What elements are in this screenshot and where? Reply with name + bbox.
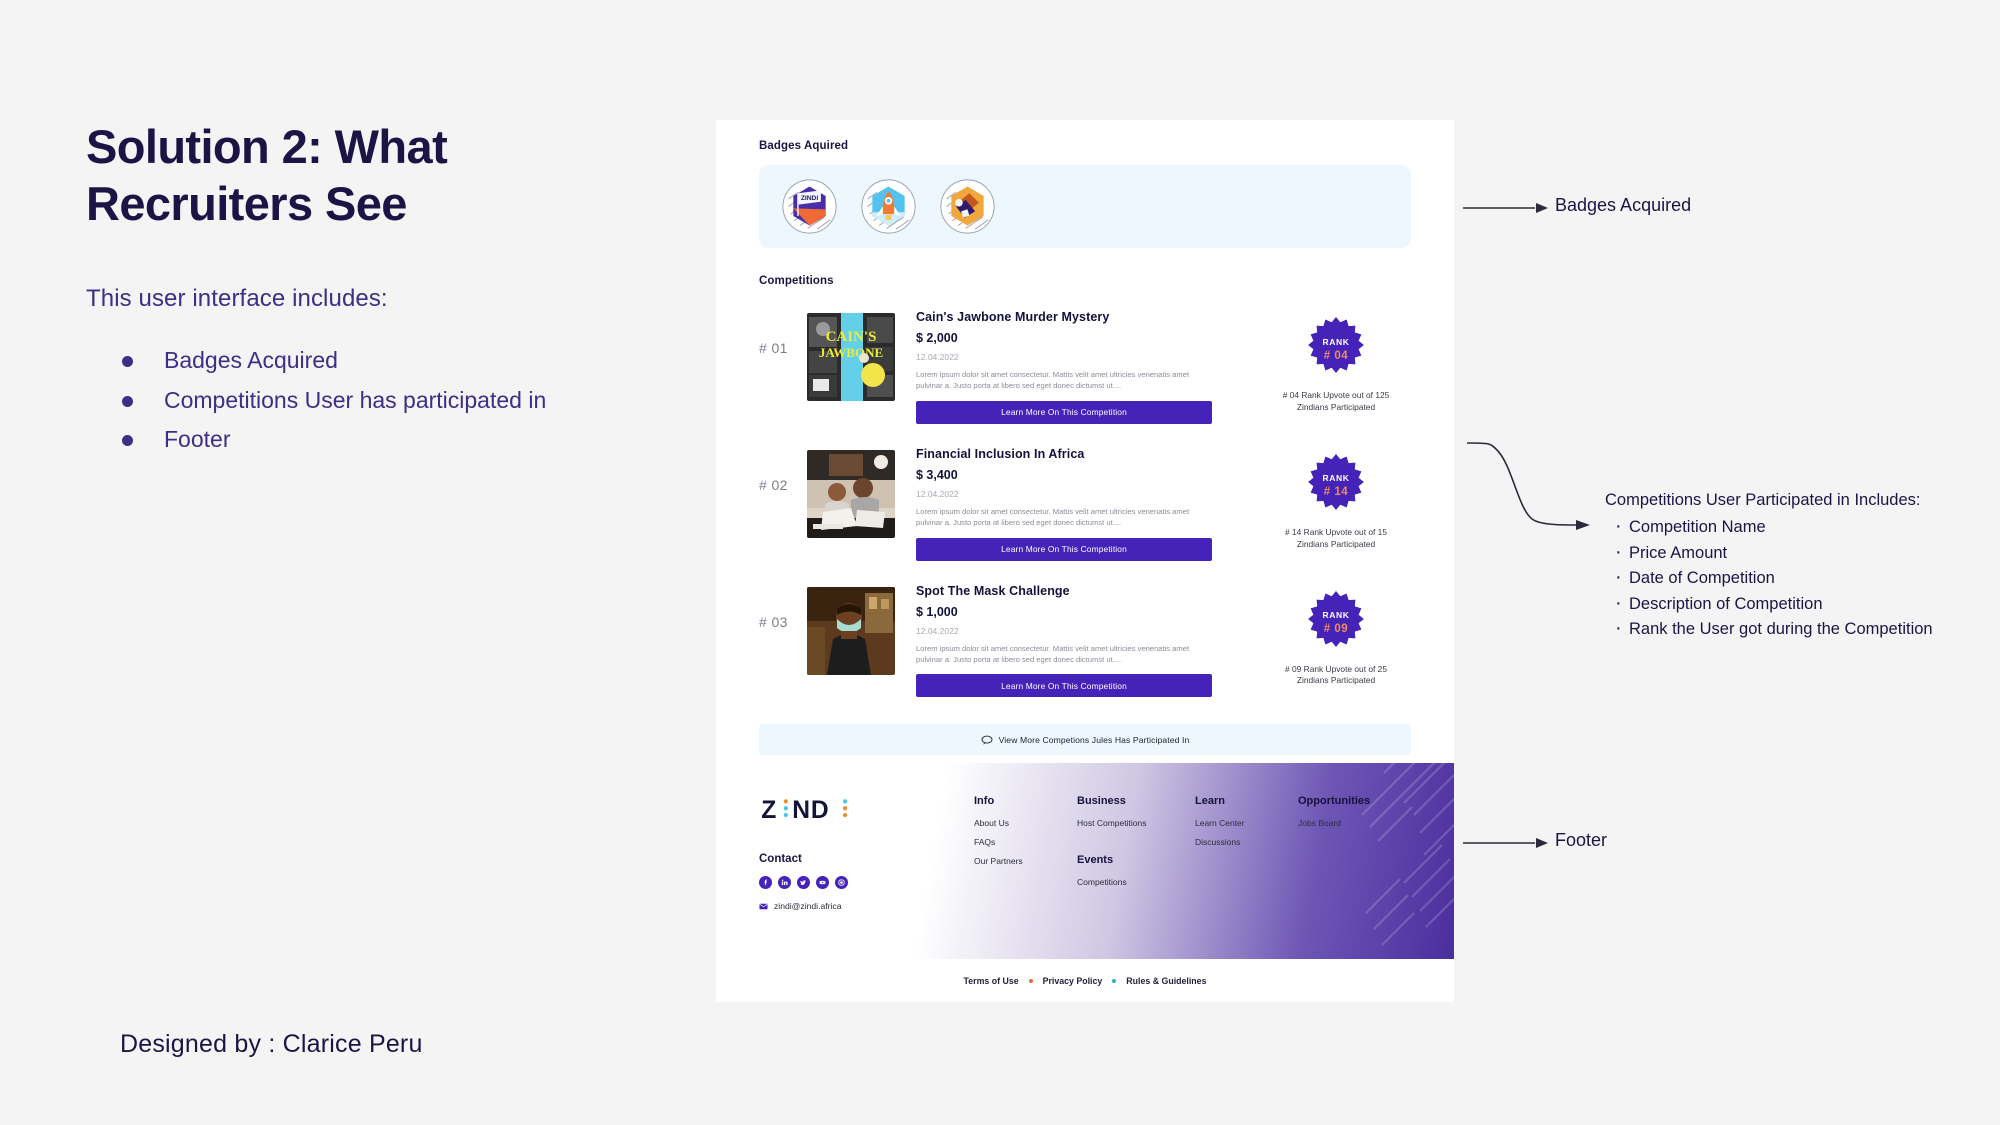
competition-date: 12.04.2022 xyxy=(916,352,1251,362)
svg-text:Z: Z xyxy=(761,796,777,823)
competitions-section-label: Competitions xyxy=(759,275,1411,287)
cains-jawbone-book-cover: CAIN'S JAWBONE xyxy=(807,313,895,401)
row-index: # 02 xyxy=(759,447,807,493)
chat-bubble-icon xyxy=(981,735,993,745)
rank-caption: # 04 Rank Upvote out of 125 Zindians Par… xyxy=(1261,390,1411,414)
legal-separator-dot xyxy=(1112,979,1116,983)
footer-link[interactable]: Our Partners xyxy=(974,856,1077,866)
svg-text:JAWBONE: JAWBONE xyxy=(819,345,883,360)
rocket-badge[interactable] xyxy=(860,178,917,235)
feature-bullet-list: Badges Acquired Competitions User has pa… xyxy=(86,343,606,459)
learn-more-button[interactable]: Learn More On This Competition xyxy=(916,401,1212,424)
slide-canvas: Solution 2: What Recruiters See This use… xyxy=(0,0,2000,1125)
terms-of-use-link[interactable]: Terms of Use xyxy=(964,976,1019,986)
rank-column: RANK # 09 # 09 Rank Upvote out of 25 Zin… xyxy=(1261,584,1411,688)
table-row: # 02 xyxy=(759,437,1411,574)
email-address: zindi@zindi.africa xyxy=(774,901,841,911)
competition-title: Cain's Jawbone Murder Mystery xyxy=(916,310,1251,324)
rank-word: RANK xyxy=(1323,337,1350,347)
row-index: # 03 xyxy=(759,584,807,630)
couple-with-documents-photo xyxy=(807,450,895,538)
footer-link[interactable]: Discussions xyxy=(1195,837,1298,847)
learn-more-button[interactable]: Learn More On This Competition xyxy=(916,538,1212,561)
competition-details: Financial Inclusion In Africa $ 3,400 12… xyxy=(895,447,1261,561)
footer-column-info: Info About Us FAQs Our Partners xyxy=(974,793,1077,959)
table-row: # 03 xyxy=(759,574,1411,711)
list-item: Competitions User has participated in xyxy=(86,383,606,419)
mockup-content: Badges Aquired ZINDI xyxy=(716,120,1454,755)
rank-starburst-badge: RANK # 09 xyxy=(1303,590,1369,656)
list-item: Competition Name xyxy=(1613,515,1933,540)
rank-word: RANK xyxy=(1323,473,1350,483)
row-index: # 01 xyxy=(759,310,807,356)
lead-text: This user interface includes: xyxy=(86,285,606,313)
footer-link[interactable]: About Us xyxy=(974,818,1077,828)
list-item: Badges Acquired xyxy=(86,343,606,379)
list-item: Rank the User got during the Competition xyxy=(1613,617,1933,642)
rank-starburst-badge: RANK # 04 xyxy=(1303,316,1369,382)
explanation-column: Solution 2: What Recruiters See This use… xyxy=(86,118,606,462)
rank-starburst-badge: RANK # 14 xyxy=(1303,453,1369,519)
footer-brand: Z ND Contact xyxy=(759,793,974,959)
footer-main: Z ND Contact xyxy=(716,763,1454,959)
footer-column-heading: Info xyxy=(974,795,1077,807)
competition-price: $ 1,000 xyxy=(916,605,1251,619)
facebook-icon[interactable] xyxy=(759,876,772,889)
list-item: Description of Competition xyxy=(1613,592,1933,617)
learn-more-button[interactable]: Learn More On This Competition xyxy=(916,674,1212,697)
zindi-logo: Z ND xyxy=(759,793,974,827)
contact-heading: Contact xyxy=(759,853,974,865)
badges-section-label: Badges Aquired xyxy=(759,140,1411,152)
annotation-list: Competition Name Price Amount Date of Co… xyxy=(1605,515,1933,642)
rank-number: # 09 xyxy=(1324,623,1348,635)
competition-description: Lorem ipsum dolor sit amet consectetur. … xyxy=(916,506,1216,529)
footer-column-learn: Learn Learn Center Discussions xyxy=(1195,793,1298,959)
woman-wearing-mask-photo xyxy=(807,587,895,675)
annotation-footer: Footer xyxy=(1555,830,1607,851)
footer-column-heading: Opportunities xyxy=(1298,795,1416,807)
badges-strip: ZINDI xyxy=(759,165,1411,248)
rank-word: RANK xyxy=(1323,610,1350,620)
footer-column-heading: Learn xyxy=(1195,795,1298,807)
competition-price: $ 3,400 xyxy=(916,468,1251,482)
annotation-competitions: Competitions User Participated in Includ… xyxy=(1605,488,1933,642)
competition-description: Lorem ipsum dolor sit amet consectetur. … xyxy=(916,369,1216,392)
mail-icon xyxy=(759,903,768,910)
competition-price: $ 2,000 xyxy=(916,331,1251,345)
footer-link[interactable]: FAQs xyxy=(974,837,1077,847)
footer-legal-bar: Terms of Use Privacy Policy Rules & Guid… xyxy=(716,959,1454,1002)
competition-details: Spot The Mask Challenge $ 1,000 12.04.20… xyxy=(895,584,1261,698)
footer-columns: Z ND Contact xyxy=(716,763,1454,959)
linkedin-icon[interactable] xyxy=(778,876,791,889)
competition-description: Lorem ipsum dolor sit amet consectetur. … xyxy=(916,643,1216,666)
list-item: Price Amount xyxy=(1613,541,1933,566)
footer-link[interactable]: Host Competitions xyxy=(1077,818,1195,828)
footer-email[interactable]: zindi@zindi.africa xyxy=(759,901,974,911)
footer-link[interactable]: Learn Center xyxy=(1195,818,1298,828)
puzzle-badge[interactable] xyxy=(939,178,996,235)
list-item: Date of Competition xyxy=(1613,566,1933,591)
ui-mockup-frame: Badges Aquired ZINDI xyxy=(716,120,1454,1002)
list-item: Footer xyxy=(86,422,606,458)
annotation-badges-acquired: Badges Acquired xyxy=(1555,195,1691,216)
competition-details: Cain's Jawbone Murder Mystery $ 2,000 12… xyxy=(895,310,1261,424)
rank-number: # 14 xyxy=(1324,486,1348,498)
footer-link[interactable]: Competitions xyxy=(1077,877,1195,887)
instagram-icon[interactable] xyxy=(835,876,848,889)
footer-column-opportunities: Opportunities Jobs Board xyxy=(1298,793,1416,959)
footer: Z ND Contact xyxy=(716,763,1454,1002)
social-links xyxy=(759,876,974,889)
privacy-policy-link[interactable]: Privacy Policy xyxy=(1043,976,1103,986)
page-title: Solution 2: What Recruiters See xyxy=(86,118,606,233)
table-row: # 01 CAIN'S JAWBONE xyxy=(759,300,1411,437)
competition-date: 12.04.2022 xyxy=(916,489,1251,499)
svg-text:CAIN'S: CAIN'S xyxy=(826,329,877,345)
competition-title: Financial Inclusion In Africa xyxy=(916,447,1251,461)
zindi-flag-badge[interactable]: ZINDI xyxy=(781,178,838,235)
rank-column: RANK # 14 # 14 Rank Upvote out of 15 Zin… xyxy=(1261,447,1411,551)
rules-guidelines-link[interactable]: Rules & Guidelines xyxy=(1126,976,1206,986)
footer-column-heading: Business xyxy=(1077,795,1195,807)
rank-caption: # 14 Rank Upvote out of 15 Zindians Part… xyxy=(1261,527,1411,551)
svg-text:ND: ND xyxy=(792,796,829,823)
view-more-label: View More Competions Jules Has Participa… xyxy=(999,735,1190,745)
view-more-competitions-button[interactable]: View More Competions Jules Has Participa… xyxy=(759,724,1411,755)
footer-link[interactable]: Jobs Board xyxy=(1298,818,1416,828)
rank-number: # 04 xyxy=(1324,350,1348,362)
rank-column: RANK # 04 # 04 Rank Upvote out of 125 Zi… xyxy=(1261,310,1411,414)
svg-text:ZINDI: ZINDI xyxy=(801,195,818,202)
twitter-icon[interactable] xyxy=(797,876,810,889)
competition-title: Spot The Mask Challenge xyxy=(916,584,1251,598)
youtube-icon[interactable] xyxy=(816,876,829,889)
footer-column-business: Business Host Competitions Events Compet… xyxy=(1077,793,1195,959)
legal-separator-dot xyxy=(1029,979,1033,983)
competition-date: 12.04.2022 xyxy=(916,626,1251,636)
footer-column-heading: Events xyxy=(1077,854,1195,866)
rank-caption: # 09 Rank Upvote out of 25 Zindians Part… xyxy=(1261,664,1411,688)
designer-credit: Designed by : Clarice Peru xyxy=(120,1030,423,1059)
annotation-heading: Competitions User Participated in Includ… xyxy=(1605,488,1933,513)
